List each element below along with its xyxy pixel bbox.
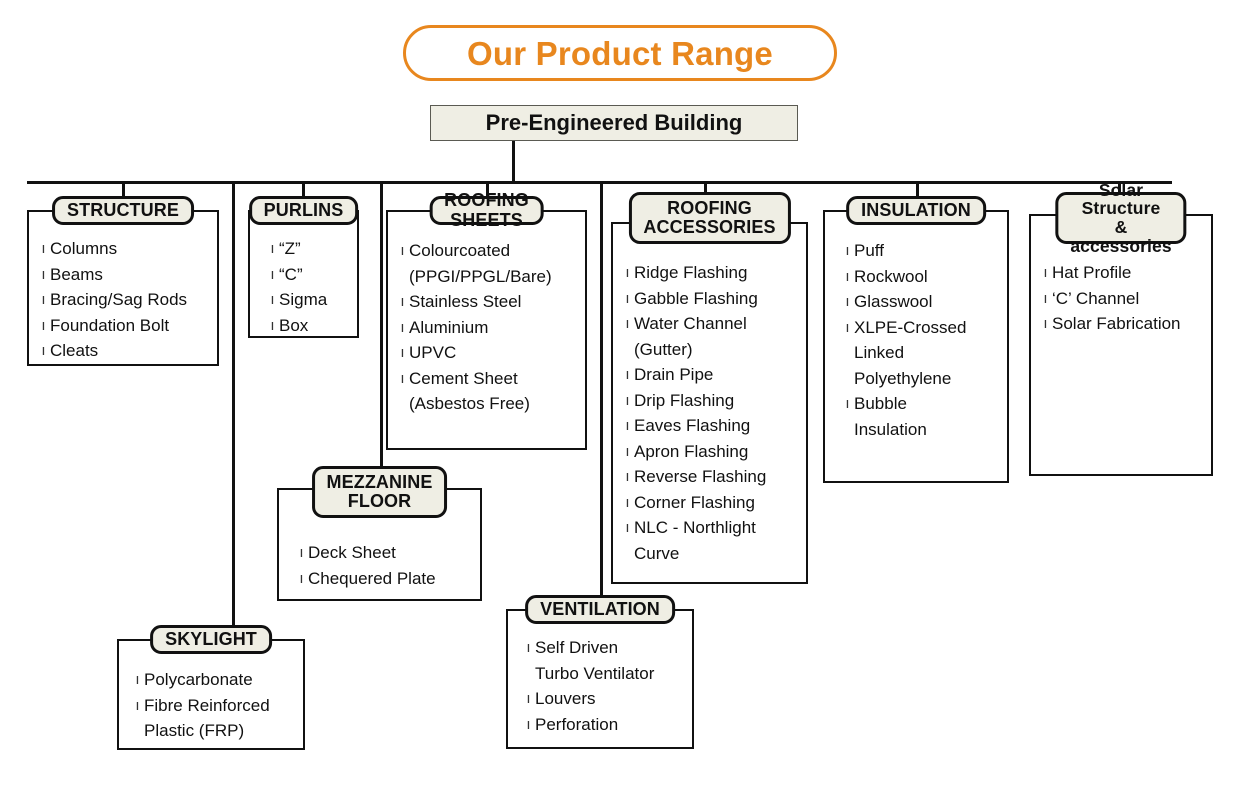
bullet-icon: ı [295,566,308,592]
list-item: ıDrip Flashing [621,388,802,414]
node-solar-structure: Solar Structure & accessories ıHat Profi… [1029,192,1213,476]
list-item: ıDeck Sheet [295,540,476,566]
node-purlins-header-label: PURLINS [264,201,344,220]
bullet-icon: ı [37,236,50,262]
bullet-icon: ı [131,667,144,693]
bullet-icon: ı [621,490,634,516]
list-item-label: Rockwool [854,264,1003,290]
list-item: ı(Gutter) [621,337,802,363]
list-item-label: Hat Profile [1052,260,1207,286]
node-ventilation-items: ıSelf DrivenıTurbo VentilatorıLouversıPe… [506,635,694,737]
list-item-label: Turbo Ventilator [535,661,688,687]
list-item: ıCurve [621,541,802,567]
list-item: ıLouvers [522,686,688,712]
list-item: ıAluminium [396,315,581,341]
node-insulation-header-label: INSULATION [861,201,971,220]
list-item: ıDrain Pipe [621,362,802,388]
list-item: ıStainless Steel [396,289,581,315]
list-item-label: Bubble [854,391,1003,417]
list-item: ıSolar Fabrication [1039,311,1207,337]
list-item-label: ‘C’ Channel [1052,286,1207,312]
list-item-label: Bracing/Sag Rods [50,287,213,313]
bullet-icon: ı [37,338,50,364]
bullet-icon: ı [841,289,854,315]
node-insulation-items: ıPuffıRockwoolıGlasswoolıXLPE-CrossedıLi… [823,238,1009,442]
bullet-icon: ı [266,313,279,339]
list-item-label: Self Driven [535,635,688,661]
node-ventilation-header: VENTILATION [525,595,675,624]
bullet-icon: ı [621,413,634,439]
list-item-label: Perforation [535,712,688,738]
list-item-label: Corner Flashing [634,490,802,516]
list-item: ıTurbo Ventilator [522,661,688,687]
bullet-icon: ı [522,686,535,712]
list-item-label: Linked [854,340,1003,366]
bullet-icon: ı [621,439,634,465]
list-item: ıWater Channel [621,311,802,337]
bullet-icon: ı [396,315,409,341]
bullet-icon: ı [396,289,409,315]
bullet-icon: ı [295,540,308,566]
list-item: ıCement Sheet [396,366,581,392]
list-item: ıRockwool [841,264,1003,290]
node-roofing-accessories-items: ıRidge FlashingıGabble FlashingıWater Ch… [611,260,808,566]
list-item: ıBubble [841,391,1003,417]
list-item: ıPuff [841,238,1003,264]
bullet-icon: ı [1039,286,1052,312]
node-mezzanine-floor-header: MEZZANINE FLOOR [312,466,448,518]
list-item-label: “Z” [279,236,353,262]
node-solar-structure-items: ıHat Profileı‘C’ ChannelıSolar Fabricati… [1029,260,1213,337]
node-solar-structure-header-label: Solar Structure & accessories [1070,181,1171,255]
list-item: ı“C” [266,262,353,288]
list-item-label: Foundation Bolt [50,313,213,339]
bullet-icon: ı [621,515,634,541]
list-item: ı(Asbestos Free) [396,391,581,417]
list-item: ıGlasswool [841,289,1003,315]
list-item: ıColourcoated [396,238,581,264]
list-item: ıFoundation Bolt [37,313,213,339]
list-item: ıBracing/Sag Rods [37,287,213,313]
bullet-icon: ı [621,311,634,337]
node-roofing-sheets-header-label: ROOFING SHEETS [444,191,529,229]
node-roofing-accessories: ROOFING ACCESSORIES ıRidge FlashingıGabb… [611,192,808,584]
list-item-label: Sigma [279,287,353,313]
bullet-icon: ı [37,287,50,313]
list-item-label: Polyethylene [854,366,1003,392]
connector-drop-mezzanine [380,181,383,469]
list-item-label: Chequered Plate [308,566,476,592]
connector-drop-ventilation [600,181,603,596]
node-roofing-accessories-header-label: ROOFING ACCESSORIES [643,199,775,237]
node-roofing-sheets-items: ıColourcoatedı(PPGI/PPGL/Bare)ıStainless… [386,238,587,417]
node-insulation: INSULATION ıPuffıRockwoolıGlasswoolıXLPE… [823,196,1009,483]
list-item: ıLinked [841,340,1003,366]
page-title: Our Product Range [467,37,773,70]
list-item: ıBeams [37,262,213,288]
list-item: ıApron Flashing [621,439,802,465]
list-item: ıPolycarbonate [131,667,299,693]
bullet-icon: ı [396,366,409,392]
bullet-icon: ı [841,238,854,264]
node-structure-header: STRUCTURE [52,196,194,225]
list-item-label: Ridge Flashing [634,260,802,286]
root-node-pre-engineered-building: Pre-Engineered Building [430,105,798,141]
bullet-icon: ı [841,315,854,341]
list-item-label: Fibre Reinforced [144,693,299,719]
node-mezzanine-floor: MEZZANINE FLOOR ıDeck SheetıChequered Pl… [277,466,482,601]
bullet-icon: ı [522,635,535,661]
list-item: ıCorner Flashing [621,490,802,516]
bullet-icon: ı [266,262,279,288]
list-item-label: Box [279,313,353,339]
node-insulation-header: INSULATION [846,196,986,225]
bullet-icon: ı [841,264,854,290]
list-item: ıChequered Plate [295,566,476,592]
node-solar-structure-header: Solar Structure & accessories [1055,192,1186,244]
list-item: ıSelf Driven [522,635,688,661]
list-item-label: Solar Fabrication [1052,311,1207,337]
bullet-icon: ı [621,388,634,414]
bullet-icon: ı [131,693,144,719]
node-roofing-sheets-header: ROOFING SHEETS [429,196,544,225]
list-item-label: UPVC [409,340,581,366]
bullet-icon: ı [266,236,279,262]
node-ventilation: VENTILATION ıSelf DrivenıTurbo Ventilato… [506,595,694,749]
list-item: ıPerforation [522,712,688,738]
bullet-icon: ı [1039,311,1052,337]
root-node-label: Pre-Engineered Building [486,110,743,136]
list-item-label: Plastic (FRP) [144,718,299,744]
node-ventilation-header-label: VENTILATION [540,600,660,619]
list-item: ıCleats [37,338,213,364]
list-item-label: Beams [50,262,213,288]
bullet-icon: ı [841,391,854,417]
list-item: ıBox [266,313,353,339]
node-structure: STRUCTURE ıColumnsıBeamsıBracing/Sag Rod… [27,196,219,366]
bullet-icon: ı [1039,260,1052,286]
list-item-label: Eaves Flashing [634,413,802,439]
list-item: ıInsulation [841,417,1003,443]
list-item: ıEaves Flashing [621,413,802,439]
list-item: ıRidge Flashing [621,260,802,286]
node-structure-items: ıColumnsıBeamsıBracing/Sag RodsıFoundati… [27,236,219,364]
list-item-label: (Gutter) [634,337,802,363]
list-item: ıReverse Flashing [621,464,802,490]
list-item: ı“Z” [266,236,353,262]
list-item-label: Water Channel [634,311,802,337]
list-item: ıUPVC [396,340,581,366]
bullet-icon: ı [621,286,634,312]
bullet-icon: ı [621,362,634,388]
list-item: ı(PPGI/PPGL/Bare) [396,264,581,290]
node-roofing-sheets: ROOFING SHEETS ıColourcoatedı(PPGI/PPGL/… [386,196,587,450]
list-item-label: XLPE-Crossed [854,315,1003,341]
bullet-icon: ı [396,238,409,264]
node-purlins-items: ı“Z”ı“C”ıSigmaıBox [248,236,359,338]
list-item-label: Cement Sheet [409,366,581,392]
page-title-pill: Our Product Range [403,25,837,81]
bullet-icon: ı [621,260,634,286]
bullet-icon: ı [396,340,409,366]
node-structure-header-label: STRUCTURE [67,201,179,220]
node-roofing-accessories-header: ROOFING ACCESSORIES [628,192,790,244]
list-item-label: NLC - Northlight [634,515,802,541]
list-item: ıFibre Reinforced [131,693,299,719]
connector-root-stem [512,141,515,183]
bullet-icon: ı [621,464,634,490]
list-item-label: Cleats [50,338,213,364]
list-item-label: Insulation [854,417,1003,443]
list-item-label: Curve [634,541,802,567]
node-skylight: SKYLIGHT ıPolycarbonateıFibre Reinforced… [117,625,305,750]
diagram-canvas: Our Product Range Pre-Engineered Buildin… [0,0,1241,792]
list-item: ıGabble Flashing [621,286,802,312]
list-item-label: Colourcoated [409,238,581,264]
node-skylight-header-label: SKYLIGHT [165,630,257,649]
list-item: ıNLC - Northlight [621,515,802,541]
list-item: ıPolyethylene [841,366,1003,392]
list-item-label: Stainless Steel [409,289,581,315]
list-item-label: Aluminium [409,315,581,341]
list-item-label: “C” [279,262,353,288]
bullet-icon: ı [266,287,279,313]
node-skylight-header: SKYLIGHT [150,625,272,654]
node-purlins-header: PURLINS [249,196,359,225]
bullet-icon: ı [37,262,50,288]
list-item-label: (Asbestos Free) [409,391,581,417]
list-item-label: Deck Sheet [308,540,476,566]
list-item: ıSigma [266,287,353,313]
bullet-icon: ı [522,712,535,738]
list-item-label: Glasswool [854,289,1003,315]
node-purlins: PURLINS ı“Z”ı“C”ıSigmaıBox [248,196,359,338]
list-item-label: Reverse Flashing [634,464,802,490]
bullet-icon: ı [37,313,50,339]
list-item: ıXLPE-Crossed [841,315,1003,341]
list-item-label: Polycarbonate [144,667,299,693]
list-item-label: Apron Flashing [634,439,802,465]
list-item-label: (PPGI/PPGL/Bare) [409,264,581,290]
list-item-label: Columns [50,236,213,262]
list-item: ıHat Profile [1039,260,1207,286]
list-item-label: Drip Flashing [634,388,802,414]
list-item-label: Puff [854,238,1003,264]
list-item-label: Gabble Flashing [634,286,802,312]
connector-drop-skylight [232,181,235,628]
node-skylight-items: ıPolycarbonateıFibre ReinforcedıPlastic … [117,667,305,744]
list-item: ı‘C’ Channel [1039,286,1207,312]
list-item: ıColumns [37,236,213,262]
list-item-label: Drain Pipe [634,362,802,388]
node-mezzanine-floor-items: ıDeck SheetıChequered Plate [277,540,482,591]
list-item: ıPlastic (FRP) [131,718,299,744]
list-item-label: Louvers [535,686,688,712]
node-mezzanine-floor-header-label: MEZZANINE FLOOR [327,473,433,511]
